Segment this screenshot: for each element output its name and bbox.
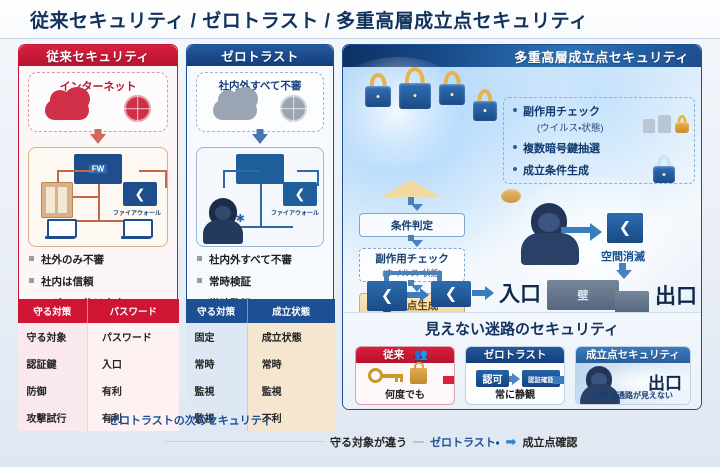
list-item: 複数暗号鍵抽選 bbox=[513, 140, 693, 156]
laptop-icon bbox=[45, 219, 75, 239]
table-cell: 監視 bbox=[247, 377, 334, 404]
wire bbox=[139, 170, 167, 172]
table-cell: 入口 bbox=[87, 350, 178, 377]
wall-block: 壁 bbox=[547, 280, 619, 310]
zerotrust-zone-label: 社内外すべて不審 bbox=[197, 78, 323, 93]
wire bbox=[57, 170, 93, 172]
panel-legacy-title: 従来セキュリティ bbox=[19, 45, 177, 66]
maze-card-establishment-footer: 攻撃者通路が見えない bbox=[576, 390, 690, 401]
people-icon: 👥 bbox=[414, 348, 427, 361]
switch-label: FW bbox=[89, 165, 107, 174]
table-cell: 認証鍵 bbox=[18, 350, 88, 377]
footer-tagline: ゼロトラストの次のセキュリティ bbox=[108, 412, 272, 428]
table-row: 防御 有利 bbox=[18, 377, 179, 404]
attacker-icon: ✱ bbox=[203, 198, 243, 244]
panel-legacy-security: 従来セキュリティ インターネット FW ❮ ファイアウォール bbox=[18, 44, 178, 410]
flow-arrow-icon bbox=[411, 204, 423, 211]
table-header-row: 守る対策 成立状態 bbox=[186, 299, 335, 323]
flow-connector bbox=[561, 227, 591, 233]
maze-card-legacy-header: 従来 👥 bbox=[355, 346, 455, 363]
table-row: 守る対象 パスワード bbox=[18, 323, 179, 350]
maze-card-zerotrust-header: ゼロトラスト bbox=[465, 346, 565, 363]
table-cell: 監視 bbox=[186, 377, 248, 404]
flow-connector bbox=[407, 292, 421, 298]
wall-label: 壁 bbox=[578, 287, 589, 303]
table-cell: 常時 bbox=[186, 350, 248, 377]
table-row: 固定 成立状態 bbox=[186, 323, 335, 350]
infographic-root: 従来セキュリティ / ゼロトラスト / 多重高層成立点セキュリティ 従来セキュリ… bbox=[0, 0, 720, 467]
legacy-internet-zone: インターネット bbox=[28, 72, 168, 132]
flow-arrow-icon bbox=[616, 270, 632, 279]
table-row: 監視 監視 bbox=[186, 377, 335, 404]
wall-block bbox=[615, 291, 649, 313]
wire bbox=[223, 170, 225, 188]
lock-icon: ● bbox=[473, 89, 497, 121]
key-icon bbox=[368, 371, 402, 380]
arrow-right-icon: ➡ bbox=[506, 434, 517, 450]
flow-arrow-icon bbox=[411, 240, 423, 247]
maze-security-section: 見えない迷路のセキュリティ 従来 👥 何度でも ゼロトラスト 認可 bbox=[343, 312, 701, 409]
table-cell: 有利 bbox=[87, 377, 178, 404]
firewall-icon: ❮ bbox=[123, 182, 157, 206]
cloud-icon bbox=[45, 99, 89, 120]
wire bbox=[223, 170, 259, 172]
distribution-node-icon: ❮ bbox=[607, 213, 643, 243]
table-cell: 成立状態 bbox=[247, 323, 334, 350]
flow-connector bbox=[509, 376, 514, 382]
maze-card-legacy: 従来 👥 何度でも bbox=[355, 346, 455, 405]
flow-arrow-icon bbox=[420, 288, 429, 302]
maze-card-legacy-footer: 何度でも bbox=[356, 386, 454, 401]
space-vanish-label: 空間消滅 bbox=[601, 248, 645, 264]
list-item: 社外のみ不審 bbox=[29, 252, 169, 267]
multilayer-feature-list: 副作用チェック (ウイルス・状態) 複数暗号鍵抽選 成立条件生成 ● bbox=[503, 97, 693, 178]
zerotrust-down-arrow-icon bbox=[252, 134, 268, 144]
entrance-label: 入口 bbox=[499, 278, 541, 308]
page-title-bar: 従来セキュリティ / ゼロトラスト / 多重高層成立点セキュリティ bbox=[0, 0, 720, 39]
lock-icon bbox=[410, 368, 427, 384]
lock-icon: ● bbox=[399, 67, 431, 109]
lock-icon bbox=[675, 115, 689, 133]
table-cell: 常時 bbox=[247, 350, 334, 377]
wire bbox=[317, 170, 319, 186]
switch-icon bbox=[236, 154, 284, 184]
flow-step-label: 条件判定 bbox=[391, 218, 433, 233]
wire bbox=[165, 170, 167, 188]
transition-arrow-stem bbox=[443, 376, 455, 384]
flow-connector bbox=[437, 271, 442, 281]
zerotrust-firewall-label: ファイアウォール bbox=[271, 208, 319, 217]
transition-arrow-stem bbox=[553, 376, 565, 384]
panel-zerotrust-title: ゼロトラスト bbox=[187, 45, 333, 66]
globe-icon bbox=[280, 95, 307, 122]
page-title: 従来セキュリティ / ゼロトラスト / 多重高層成立点セキュリティ bbox=[30, 6, 589, 33]
legacy-firewall-label: ファイアウォール bbox=[113, 208, 161, 217]
exit-label: 出口 bbox=[655, 280, 697, 310]
cloud-icon bbox=[213, 99, 257, 120]
table-header-cell: 守る対策 bbox=[18, 299, 88, 323]
table-cell: 攻撃試行 bbox=[18, 404, 88, 431]
multilayer-diagram: ● ● ● ● 条件判定 副作用チェック (ウイルス・状態) bbox=[343, 67, 701, 312]
server-icon bbox=[41, 182, 73, 218]
table-header-cell: 守る対策 bbox=[186, 299, 248, 323]
alert-spark-icon: ✱ bbox=[236, 212, 245, 225]
zerotrust-network-diagram: ❮ ファイアウォール ✱ bbox=[196, 147, 324, 247]
building-icon bbox=[658, 115, 671, 133]
list-item: 常時検証 bbox=[197, 274, 325, 289]
attacker-icon bbox=[521, 203, 579, 265]
footer-note-left: 守る対象が違う bbox=[330, 434, 407, 450]
wire bbox=[260, 184, 262, 228]
maze-card-establishment-header: 成立点セキュリティ bbox=[575, 346, 691, 363]
distribution-node-icon: ❮ bbox=[431, 281, 471, 307]
legacy-network-diagram: FW ❮ ファイアウォール bbox=[28, 147, 168, 247]
footer-note: 守る対象が違う — ゼロトラスト・ ➡ 成立点確認 bbox=[330, 434, 577, 450]
maze-card-establishment: 成立点セキュリティ 出口 攻撃者通路が見えない bbox=[575, 346, 691, 405]
footer-note-mid: ゼロトラスト・ bbox=[430, 434, 500, 450]
table-row: 認証鍵 入口 bbox=[18, 350, 179, 377]
flow-connector bbox=[384, 271, 442, 275]
distribution-node-icon: ❮ bbox=[367, 281, 407, 311]
footer-note-right: 成立点確認 bbox=[522, 434, 577, 450]
approve-badge: 認可 bbox=[476, 370, 509, 387]
list-item: 社内は信頼 bbox=[29, 274, 169, 289]
footer-divider bbox=[165, 441, 325, 442]
table-cell: 固定 bbox=[186, 323, 248, 350]
table-cell: パスワード bbox=[87, 323, 178, 350]
panel-zerotrust: ゼロトラスト 社内外すべて不審 ❮ ファイアウォール ✱ 社内外すべて不審 bbox=[186, 44, 334, 410]
switch-icon: FW bbox=[74, 154, 122, 184]
table-row: 常時 常時 bbox=[186, 350, 335, 377]
wire bbox=[297, 170, 319, 172]
flow-step-sideeffect: 副作用チェック (ウイルス・状態) bbox=[359, 248, 465, 282]
flow-arrow-icon bbox=[485, 286, 494, 300]
flow-step-label: 副作用チェック bbox=[375, 251, 449, 266]
globe-icon bbox=[124, 95, 151, 122]
firewall-icon: ❮ bbox=[283, 182, 317, 206]
footer-dash: — bbox=[413, 436, 424, 448]
table-cell: 防御 bbox=[18, 377, 88, 404]
maze-card-legacy-title: 従来 bbox=[383, 347, 404, 362]
list-item: 社内外すべて不審 bbox=[197, 252, 325, 267]
flow-step-condition: 条件判定 bbox=[359, 213, 465, 237]
wire bbox=[98, 184, 100, 222]
zerotrust-zone: 社内外すべて不審 bbox=[196, 72, 324, 132]
lock-icon bbox=[501, 189, 521, 203]
maze-card-zerotrust-footer: 常に静観 bbox=[466, 386, 564, 401]
panel-multilayer-security: 多重高層成立点セキュリティ ● ● ● ● 条件判定 bbox=[342, 44, 702, 410]
table-header-cell: パスワード bbox=[87, 299, 178, 323]
lock-icon: ● bbox=[439, 71, 465, 105]
maze-card-zerotrust: ゼロトラスト 認可 認証確認 常に静観 bbox=[465, 346, 565, 405]
table-cell: 守る対象 bbox=[18, 323, 88, 350]
flow-arrow-icon bbox=[590, 223, 602, 241]
laptop-icon bbox=[121, 219, 151, 239]
maze-section-title: 見えない迷路のセキュリティ bbox=[343, 318, 701, 339]
building-icon bbox=[643, 119, 655, 133]
flow-connector bbox=[472, 290, 486, 296]
legacy-down-arrow-icon bbox=[90, 134, 106, 144]
funnel-icon bbox=[381, 180, 441, 197]
table-header-row: 守る対策 パスワード bbox=[18, 299, 179, 323]
lock-icon: ● bbox=[365, 73, 391, 107]
lock-icon: ● bbox=[653, 155, 675, 183]
table-header-cell: 成立状態 bbox=[247, 299, 334, 323]
wire bbox=[71, 196, 99, 198]
legacy-zone-label: インターネット bbox=[29, 78, 167, 94]
